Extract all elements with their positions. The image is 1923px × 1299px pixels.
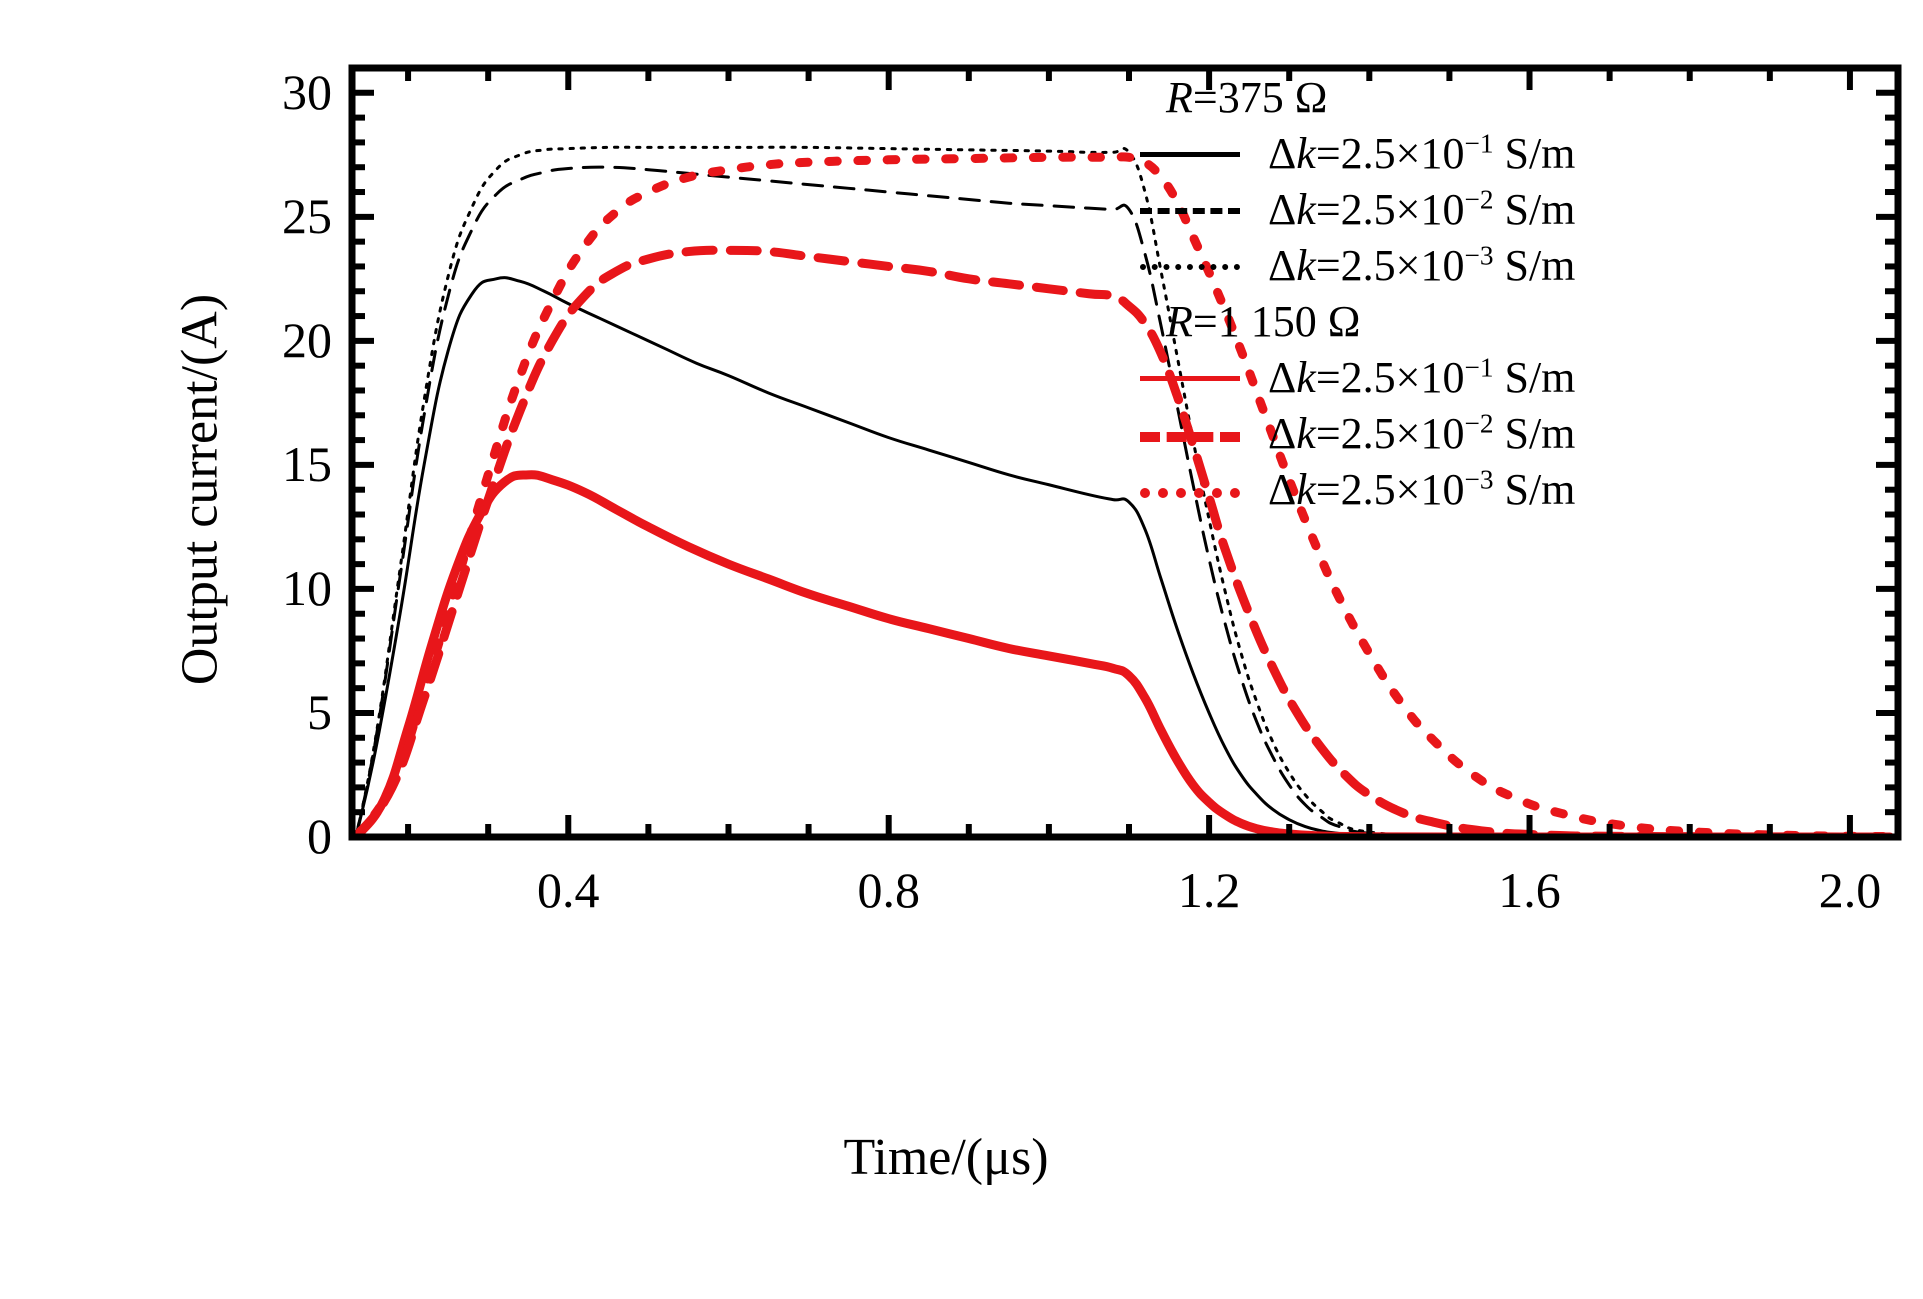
x-tick-label-1.6: 1.6 [1430, 865, 1630, 915]
y-tick-label-10: 10 [212, 563, 332, 613]
legend-unit-4: S/m [1493, 409, 1575, 458]
legend-label-4: Δk=2.5×10−2 S/m [1268, 406, 1575, 462]
legend-item-3[interactable]: Δk=2.5×10−1 S/m [1140, 350, 1910, 406]
legend-exp-2: −3 [1464, 240, 1493, 270]
legend-item-2[interactable]: Δk=2.5×10−3 S/m [1140, 238, 1910, 294]
legend-unit-3: S/m [1493, 353, 1575, 402]
legend-group-header-2: R=1 150 Ω [1140, 294, 1910, 350]
x-axis-title: Time/(μs) [636, 1128, 1256, 1187]
y-axis-title: Output current/(A) [171, 230, 230, 750]
legend-swatch-dashed-black [1140, 208, 1240, 219]
legend-swatch-solid-red [1140, 376, 1240, 381]
legend-label-1: Δk=2.5×10−2 S/m [1268, 182, 1575, 238]
y-tick-label-25: 25 [212, 191, 332, 241]
legend-item-5[interactable]: Δk=2.5×10−3 S/m [1140, 462, 1910, 518]
legend-swatch-dashed-red [1140, 432, 1240, 447]
legend-label-3: Δk=2.5×10−1 S/m [1268, 350, 1575, 406]
x-tick-label-0.8: 0.8 [789, 865, 989, 915]
y-tick-label-20: 20 [212, 315, 332, 365]
legend-group-header-1: R=375 Ω [1140, 70, 1910, 126]
legend-swatch-dotted-black [1140, 264, 1240, 275]
legend-swatch-solid-black [1140, 152, 1240, 157]
x-tick-label-0.4: 0.4 [468, 865, 668, 915]
legend-exp-4: −2 [1464, 408, 1493, 438]
legend-exp-1: −2 [1464, 184, 1493, 214]
legend-exp-0: −1 [1464, 128, 1493, 158]
y-tick-label-0: 0 [212, 811, 332, 861]
legend-label-0: Δk=2.5×10−1 S/m [1268, 126, 1575, 182]
legend-swatch-dotted-red [1140, 488, 1240, 503]
y-tick-label-30: 30 [212, 67, 332, 117]
chart-legend: R=375 Ω Δk=2.5×10−1 S/m Δk=2.5×10−2 S/m … [1140, 70, 1910, 518]
legend-label-5: Δk=2.5×10−3 S/m [1268, 462, 1575, 518]
legend-exp-3: −1 [1464, 352, 1493, 382]
y-tick-label-15: 15 [212, 439, 332, 489]
legend-unit-2: S/m [1493, 241, 1575, 290]
legend-label-2: Δk=2.5×10−3 S/m [1268, 238, 1575, 294]
legend-item-1[interactable]: Δk=2.5×10−2 S/m [1140, 182, 1910, 238]
legend-exp-5: −3 [1464, 464, 1493, 494]
legend-unit-0: S/m [1493, 129, 1575, 178]
legend-item-4[interactable]: Δk=2.5×10−2 S/m [1140, 406, 1910, 462]
y-tick-label-5: 5 [212, 687, 332, 737]
legend-group-1-rest: =375 Ω [1193, 73, 1328, 122]
legend-item-0[interactable]: Δk=2.5×10−1 S/m [1140, 126, 1910, 182]
figure-root: Output current/(A) Time/(μs) 30252015105… [0, 0, 1923, 1299]
x-tick-label-1.2: 1.2 [1109, 865, 1309, 915]
legend-unit-5: S/m [1493, 465, 1575, 514]
x-tick-label-2.0: 2.0 [1750, 865, 1923, 915]
legend-group-2-rest: =1 150 Ω [1193, 297, 1361, 346]
series-line-3 [356, 475, 1890, 837]
legend-unit-1: S/m [1493, 185, 1575, 234]
